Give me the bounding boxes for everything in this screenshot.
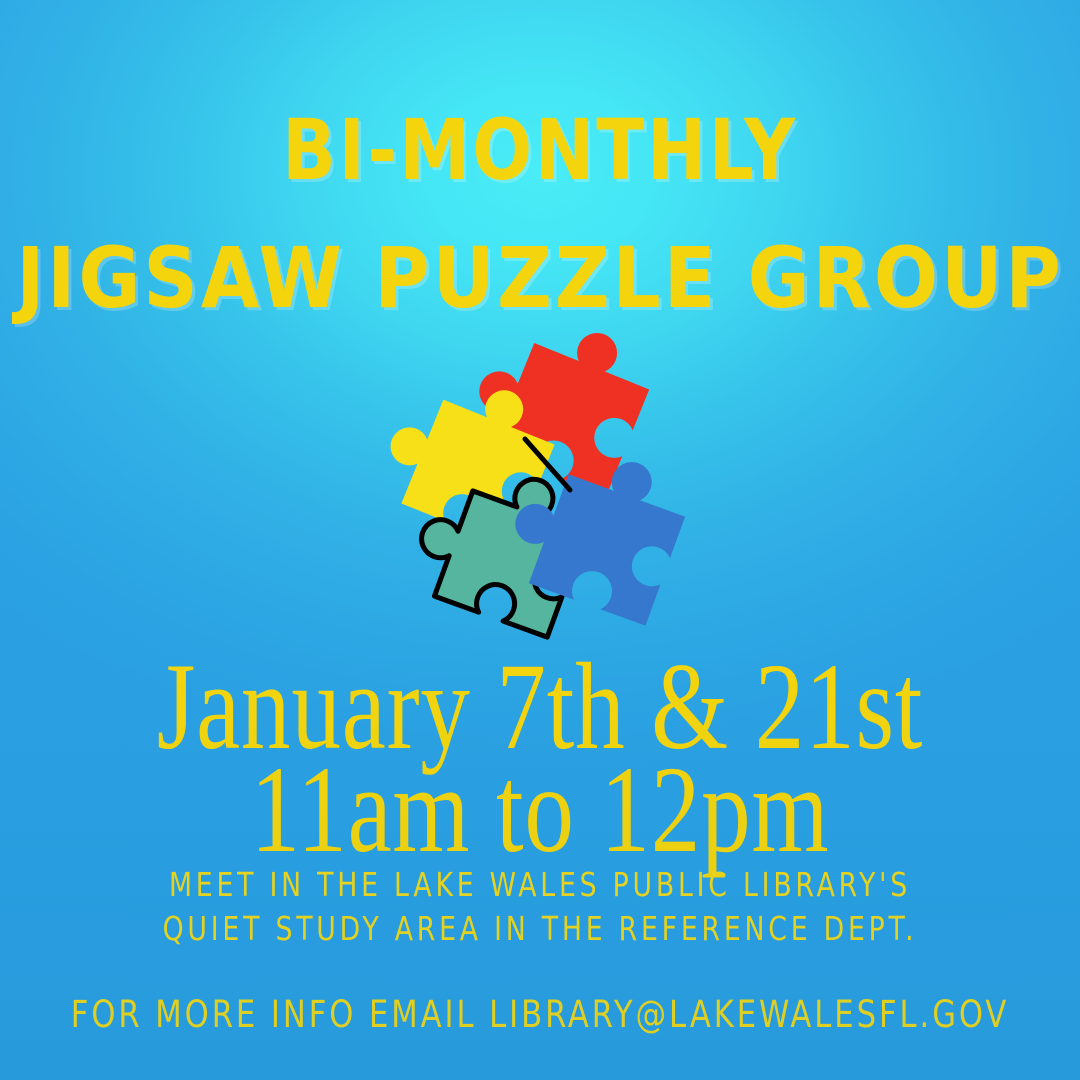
event-time: 11am to 12pm: [108, 748, 972, 872]
location-line-2: QUIET STUDY AREA IN THE REFERENCE DEPT.: [54, 912, 1026, 945]
jigsaw-puzzle-icon: [380, 332, 700, 652]
event-flyer: BI-MONTHLY JIGSAW PUZZLE GROUP: [0, 0, 1080, 1080]
flyer-title-line-2: JIGSAW PUZZLE GROUP: [0, 236, 1080, 320]
location-line-1: MEET IN THE LAKE WALES PUBLIC LIBRARY'S: [54, 868, 1026, 901]
contact-email-line: FOR MORE INFO EMAIL LIBRARY@LAKEWALESFL.…: [43, 996, 1037, 1033]
flyer-title-line-1: BI-MONTHLY: [38, 108, 1042, 192]
